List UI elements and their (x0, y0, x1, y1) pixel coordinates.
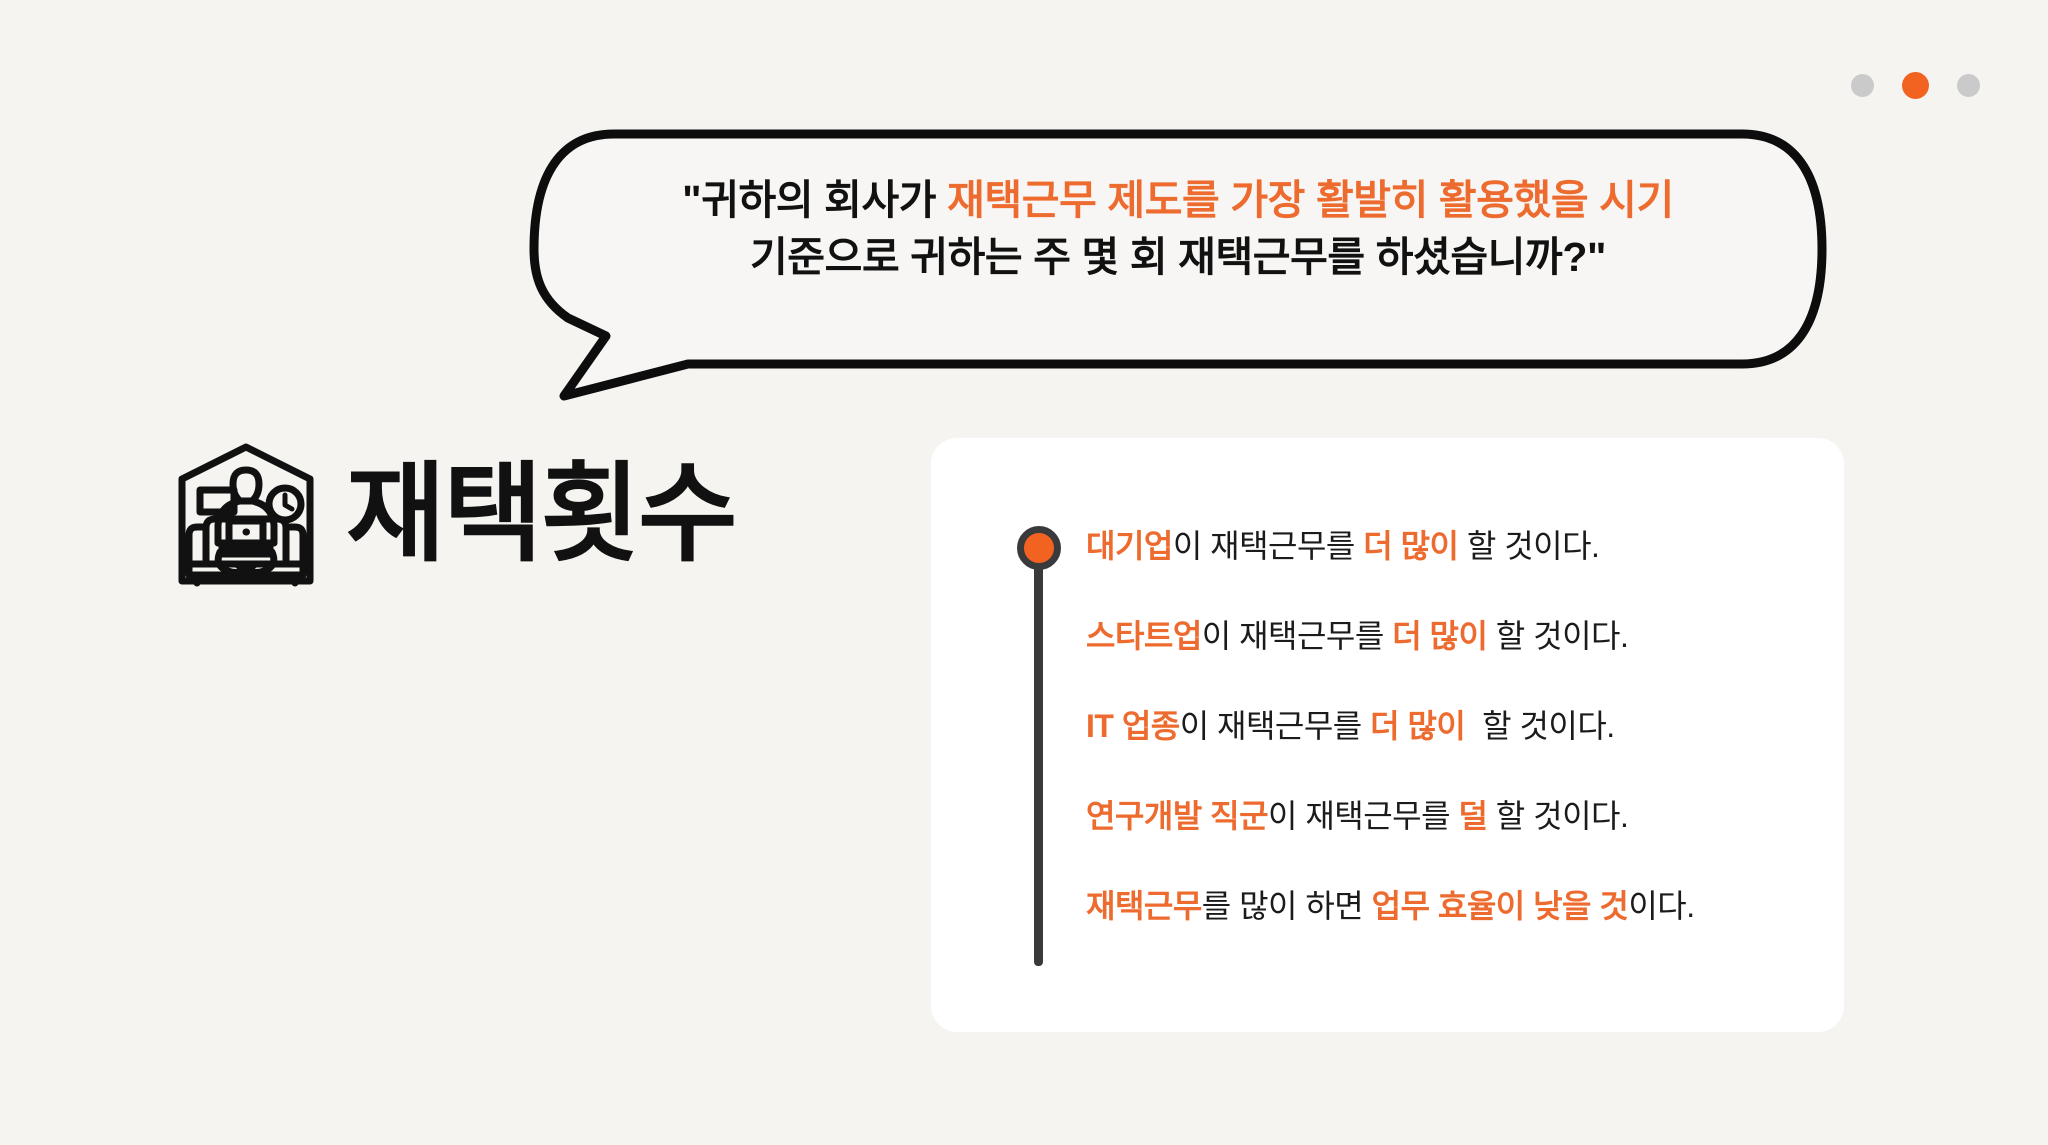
statement-segment-3: 더 많이 (1370, 708, 1465, 744)
quote-line-1-plain: "귀하의 회사가 (682, 177, 947, 223)
list-item: IT 업종이 재택근무를 더 많이 할 것이다. (1086, 710, 1816, 742)
pagination-dots (1851, 72, 1980, 99)
statement-segment-4: 할 것이다. (1487, 618, 1628, 654)
statement-list: 대기업이 재택근무를 더 많이 할 것이다. 스타트업이 재택근무를 더 많이 … (1086, 530, 1816, 922)
quote-line-2: 기준으로 귀하는 주 몇 회 재택근무를 하셨습니까?" (598, 229, 1758, 286)
statement-segment-1: IT 업종 (1086, 708, 1180, 744)
statement-segment-2: 를 많이 하면 (1202, 888, 1372, 924)
statement-segment-4: 할 것이다. (1465, 708, 1614, 744)
quote-line-1: "귀하의 회사가 재택근무 제도를 가장 활발히 활용했을 시기 (598, 172, 1758, 229)
quote-speech-bubble: "귀하의 회사가 재택근무 제도를 가장 활발히 활용했을 시기 기준으로 귀하… (528, 128, 1828, 370)
timeline-line (1034, 550, 1043, 966)
list-item: 스타트업이 재택근무를 더 많이 할 것이다. (1086, 620, 1816, 652)
statement-segment-4: 할 것이다. (1458, 528, 1599, 564)
statement-segment-2: 이 재택근무를 (1180, 708, 1370, 744)
statement-segment-3: 업무 효율이 낮을 것 (1372, 888, 1629, 924)
page-dot-1[interactable] (1851, 74, 1874, 97)
statement-segment-2: 이 재택근무를 (1173, 528, 1363, 564)
statement-segment-1: 대기업 (1086, 528, 1173, 564)
list-item: 재택근무를 많이 하면 업무 효율이 낮을 것이다. (1086, 890, 1816, 922)
page-dot-2[interactable] (1902, 72, 1929, 99)
quote-line-1-highlight: 재택근무 제도를 가장 활발히 활용했을 시기 (947, 177, 1674, 223)
list-item: 대기업이 재택근무를 더 많이 할 것이다. (1086, 530, 1816, 562)
timeline-indicator (1017, 526, 1061, 966)
work-from-home-icon (172, 438, 320, 590)
list-item: 연구개발 직군이 재택근무를 덜 할 것이다. (1086, 800, 1816, 832)
timeline-dot (1017, 526, 1061, 570)
quote-text: "귀하의 회사가 재택근무 제도를 가장 활발히 활용했을 시기 기준으로 귀하… (528, 172, 1828, 285)
statement-segment-1: 연구개발 직군 (1086, 798, 1268, 834)
statement-segment-3: 더 많이 (1392, 618, 1487, 654)
page-dot-3[interactable] (1957, 74, 1980, 97)
statement-segment-4: 이다. (1628, 888, 1694, 924)
statement-segment-1: 재택근무 (1086, 888, 1202, 924)
statement-segment-3: 덜 (1458, 798, 1487, 834)
quote-line-2-plain: 기준으로 귀하는 주 몇 회 재택근무를 하셨습니까?" (750, 234, 1606, 280)
statement-segment-3: 더 많이 (1363, 528, 1458, 564)
section-heading: 재택횟수 (172, 438, 735, 590)
statement-segment-4: 할 것이다. (1487, 798, 1628, 834)
statements-card: 대기업이 재택근무를 더 많이 할 것이다. 스타트업이 재택근무를 더 많이 … (931, 438, 1844, 1032)
statement-segment-2: 이 재택근무를 (1202, 618, 1392, 654)
statement-segment-1: 스타트업 (1086, 618, 1202, 654)
page-title: 재택횟수 (346, 460, 735, 568)
statement-segment-2: 이 재택근무를 (1268, 798, 1458, 834)
